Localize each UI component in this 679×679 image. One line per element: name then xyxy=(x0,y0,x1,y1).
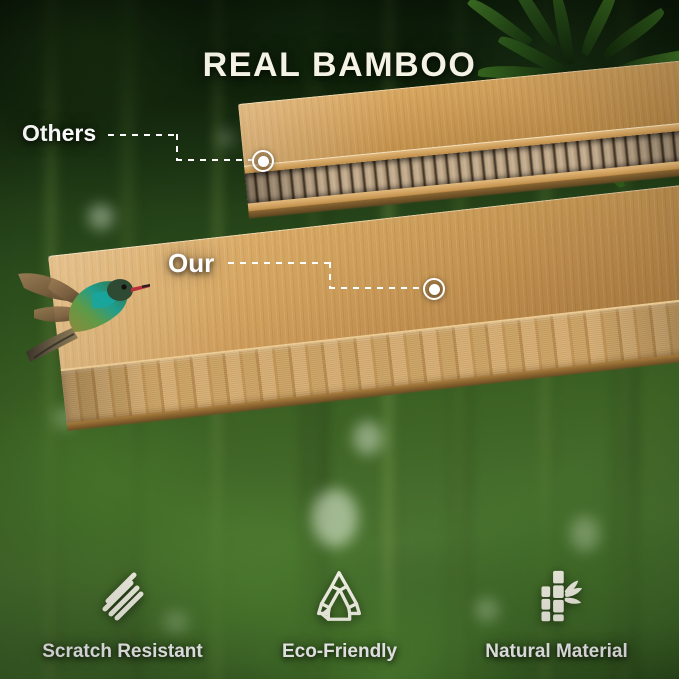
feature-label: Eco-Friendly xyxy=(282,641,397,663)
callout-marker-others[interactable] xyxy=(252,150,274,172)
target-dot-icon xyxy=(429,284,440,295)
feature-list: Scratch Resistant Eco-Friendly xyxy=(0,565,679,663)
callout-label-our: Our xyxy=(168,248,214,279)
callout-label-others: Others xyxy=(22,120,96,147)
callout-marker-our[interactable] xyxy=(423,278,445,300)
feature-label: Natural Material xyxy=(485,641,628,663)
hummingbird-svg xyxy=(4,248,150,376)
scratch-lines-icon xyxy=(91,565,153,627)
feature-label: Scratch Resistant xyxy=(42,641,203,663)
feature-item-scratch-resistant: Scratch Resistant xyxy=(15,565,230,663)
recycle-icon xyxy=(308,565,370,627)
hummingbird-illustration xyxy=(4,248,150,376)
feature-item-eco-friendly: Eco-Friendly xyxy=(232,565,447,663)
product-infographic: REAL BAMBOO xyxy=(0,0,679,679)
target-dot-icon xyxy=(258,156,269,167)
bamboo-stalk-icon xyxy=(525,565,587,627)
feature-item-natural-material: Natural Material xyxy=(449,565,664,663)
